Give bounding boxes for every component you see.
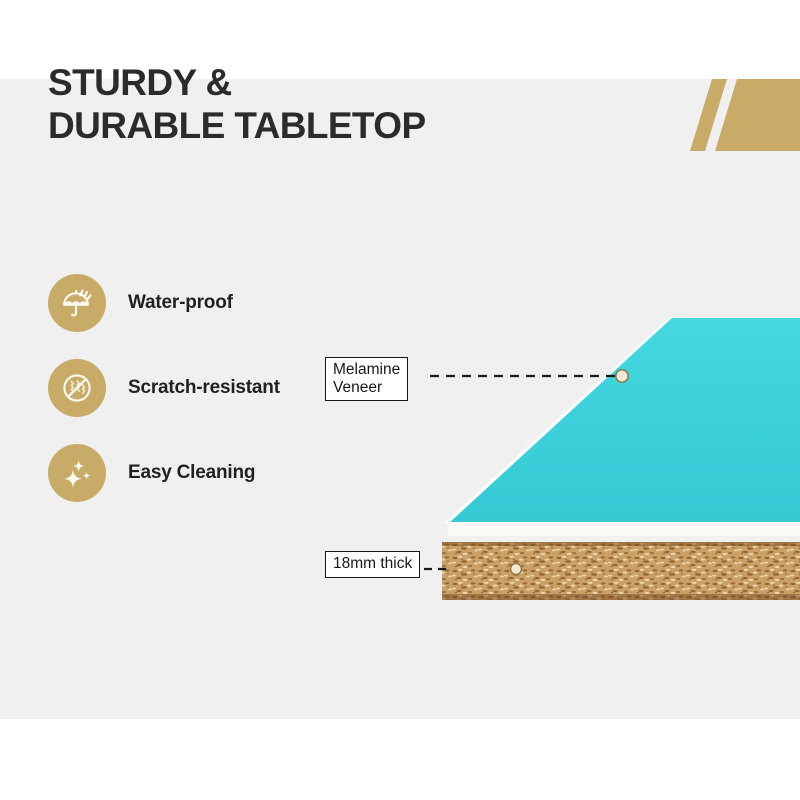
feature-label: Scratch-resistant [128,377,280,399]
melamine-veneer-surface [448,318,800,522]
no-scratch-icon [48,359,106,417]
sparkle-icon [48,444,106,502]
feature-label: Water-proof [128,292,233,314]
feature-row-water-proof: Water-proof [48,260,348,345]
callout-thickness: 18mm thick [325,551,420,578]
feature-list: Water-proof Scratch-resistant [48,260,348,515]
feature-row-easy-cleaning: Easy Cleaning [48,430,348,515]
board-top-shadow [442,542,800,546]
feature-label: Easy Cleaning [128,462,255,484]
particleboard-core [442,542,800,600]
white-veneer-edge [448,522,800,536]
callout-melamine-veneer: Melamine Veneer [325,357,408,401]
tabletop-slab-illustration [400,230,800,650]
umbrella-rain-icon [48,274,106,332]
feature-row-scratch-resistant: Scratch-resistant [48,345,348,430]
infographic-canvas: STURDY & DURABLE TABLETOP [0,0,800,800]
page-title: STURDY & DURABLE TABLETOP [48,62,426,148]
board-bottom-shadow [442,594,800,600]
